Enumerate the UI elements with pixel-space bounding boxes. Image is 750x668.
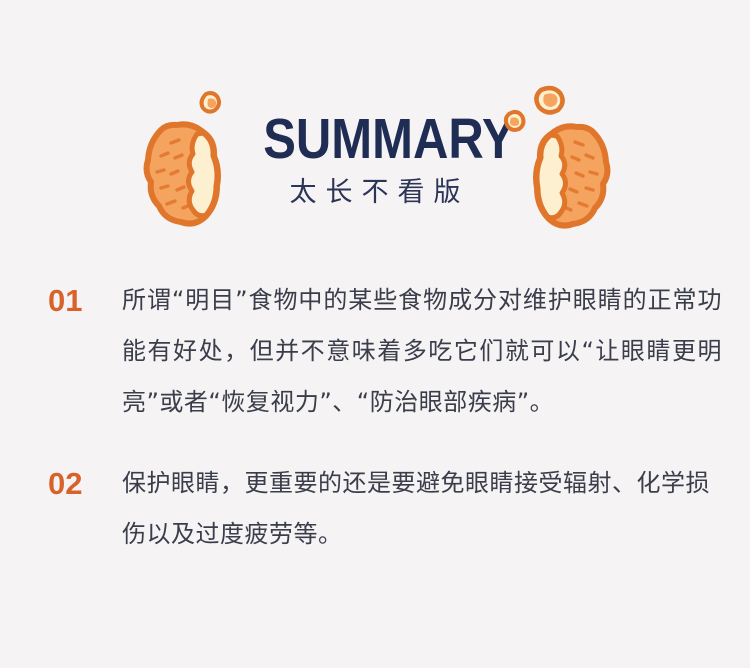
item-text: 所谓“明目”食物中的某些食物成分对维护眼睛的正常功能有好处，但并不意味着多吃它们… (122, 275, 722, 428)
summary-header: SUMMARY 太长不看版 (0, 78, 750, 238)
decor-left-slot (115, 78, 245, 238)
item-text: 保护眼睛，更重要的还是要避免眼睛接受辐射、化学损伤以及过度疲劳等。 (122, 458, 722, 560)
decor-right-slot (505, 78, 635, 238)
item-number: 02 (48, 458, 122, 509)
list-item: 02 保护眼睛，更重要的还是要避免眼睛接受辐射、化学损伤以及过度疲劳等。 (0, 458, 750, 560)
item-number: 01 (48, 275, 122, 326)
summary-list: 01 所谓“明目”食物中的某些食物成分对维护眼睛的正常功能有好处，但并不意味着多… (0, 275, 750, 560)
summary-page: SUMMARY 太长不看版 (0, 0, 750, 668)
page-subtitle: 太长不看版 (245, 178, 505, 208)
walnut-half-icon (499, 80, 619, 235)
title-block: SUMMARY 太长不看版 (245, 112, 505, 208)
list-item: 01 所谓“明目”食物中的某些食物成分对维护眼睛的正常功能有好处，但并不意味着多… (0, 275, 750, 428)
walnut-crumb-icon (506, 112, 524, 130)
page-title: SUMMARY (263, 112, 487, 168)
walnut-half-icon (135, 86, 235, 236)
walnut-crumb-icon (536, 88, 562, 112)
walnut-crumb-icon (202, 93, 219, 112)
